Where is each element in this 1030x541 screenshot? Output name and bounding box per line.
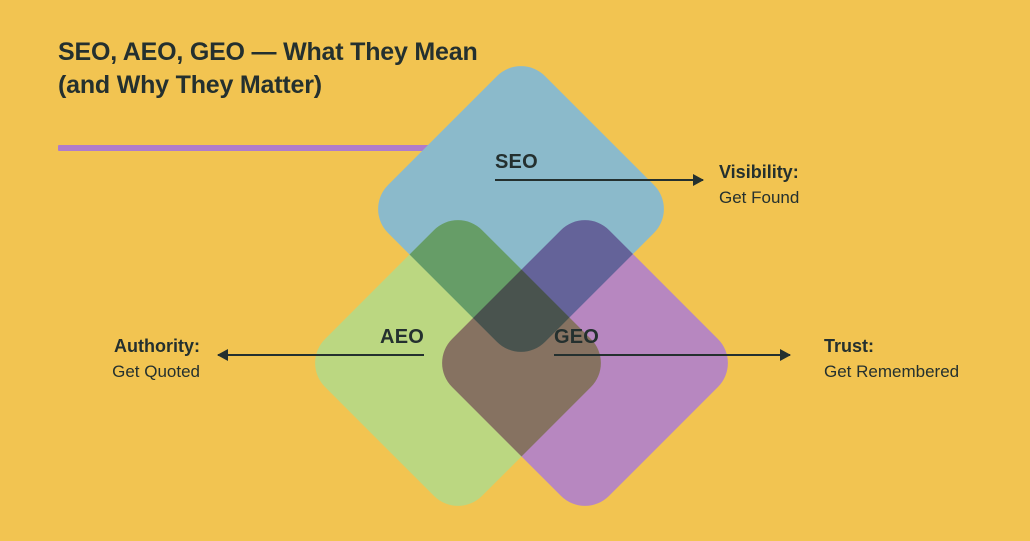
outcome-trust-subtitle: Get Remembered <box>824 360 959 384</box>
arrow-group-geo: GEO <box>554 327 790 356</box>
arrow-head-right-icon <box>780 349 791 361</box>
infographic-canvas: SEO, AEO, GEO — What They Mean (and Why … <box>0 0 1030 541</box>
venn-diagram <box>0 0 1030 541</box>
arrow-label-aeo: AEO <box>380 327 424 354</box>
outcome-authority: Authority: Get Quoted <box>112 334 200 384</box>
outcome-visibility-title: Visibility: <box>719 160 799 186</box>
arrow-head-left-icon <box>217 349 228 361</box>
outcome-visibility-subtitle: Get Found <box>719 186 799 210</box>
arrow-label-geo: GEO <box>554 327 599 354</box>
outcome-visibility: Visibility: Get Found <box>719 160 799 210</box>
arrow-line-aeo <box>218 354 424 356</box>
outcome-authority-subtitle: Get Quoted <box>112 360 200 384</box>
arrow-group-seo: SEO <box>495 152 703 181</box>
arrow-seo <box>495 179 703 181</box>
outcome-trust: Trust: Get Remembered <box>824 334 959 384</box>
arrow-geo <box>554 354 790 356</box>
arrow-aeo <box>218 354 424 356</box>
arrow-head-right-icon <box>693 174 704 186</box>
arrow-label-seo: SEO <box>495 152 538 179</box>
arrow-line-geo <box>554 354 790 356</box>
arrow-line-seo <box>495 179 703 181</box>
outcome-authority-title: Authority: <box>112 334 200 360</box>
outcome-trust-title: Trust: <box>824 334 959 360</box>
arrow-group-aeo: AEO <box>218 327 424 356</box>
